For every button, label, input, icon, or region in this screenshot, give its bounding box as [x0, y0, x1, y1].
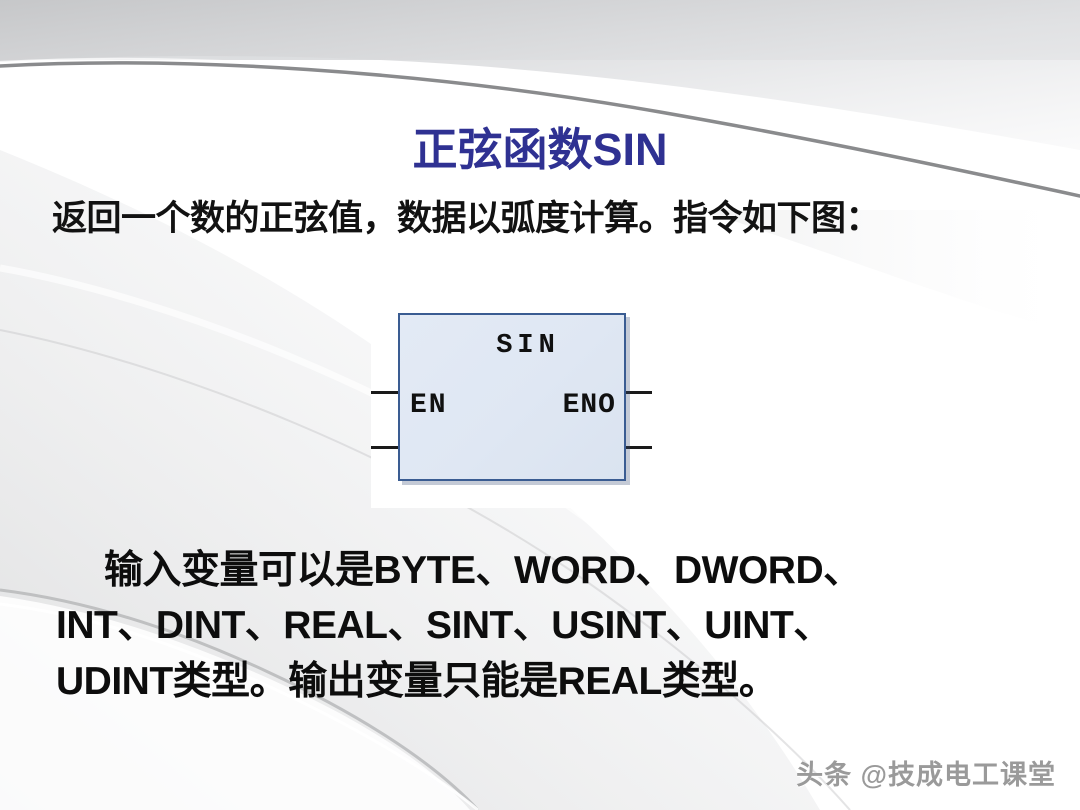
slide-canvas: 正弦函数SIN 返回一个数的正弦值，数据以弧度计算。指令如下图： SIN EN … — [0, 0, 1080, 810]
watermark-text: 头条 @技成电工课堂 — [796, 753, 1056, 792]
connector-left-top — [371, 391, 400, 394]
body-line-3: UDINT类型。输出变量只能是REAL类型。 — [56, 654, 1024, 709]
subtitle-text: 返回一个数的正弦值，数据以弧度计算。指令如下图： — [52, 199, 1038, 238]
function-block-en-label: EN — [410, 390, 448, 421]
connector-right-bottom — [624, 446, 652, 449]
connector-left-bottom — [371, 446, 400, 449]
function-block-diagram: SIN EN ENO — [371, 290, 651, 508]
function-block-body: SIN EN ENO — [398, 313, 626, 481]
function-block-eno-label: ENO — [563, 390, 616, 421]
function-block-name: SIN — [400, 331, 628, 361]
page-title: 正弦函数SIN — [0, 126, 1080, 173]
body-line-1: 输入变量可以是BYTE、WORD、DWORD、 — [56, 543, 1024, 598]
body-line-2: INT、DINT、REAL、SINT、USINT、UINT、 — [56, 598, 1024, 653]
connector-right-top — [624, 391, 652, 394]
body-paragraph: 输入变量可以是BYTE、WORD、DWORD、 INT、DINT、REAL、SI… — [56, 543, 1024, 709]
